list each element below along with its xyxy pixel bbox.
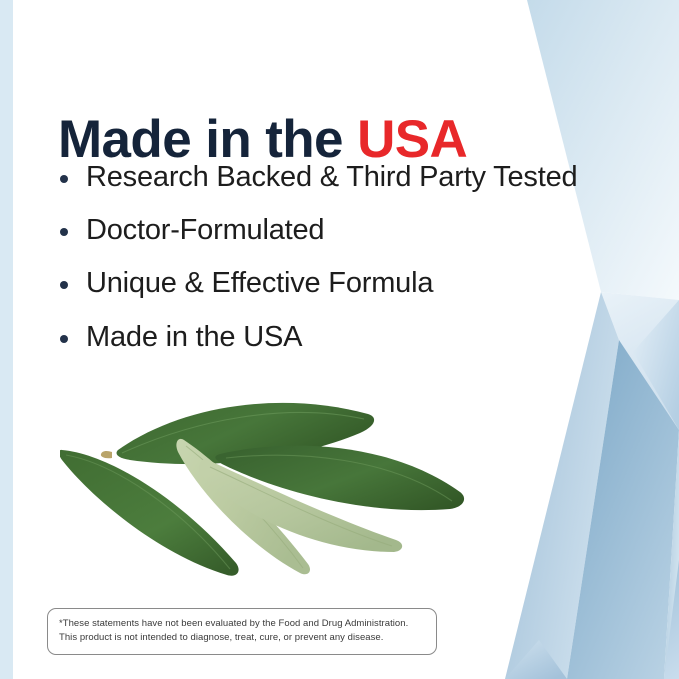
list-item: Research Backed & Third Party Tested: [56, 160, 636, 194]
list-item-label: Doctor-Formulated: [86, 214, 324, 246]
olive-leaves-image: [60, 388, 480, 583]
list-item-label: Research Backed & Third Party Tested: [86, 161, 577, 193]
bullet-dot-icon: [60, 175, 68, 183]
list-item: Unique & Effective Formula: [56, 266, 636, 300]
list-item: Made in the USA: [56, 320, 636, 354]
list-item-label: Unique & Effective Formula: [86, 267, 433, 299]
bullet-dot-icon: [60, 228, 68, 236]
bullet-dot-icon: [60, 281, 68, 289]
feature-list: Research Backed & Third Party Tested Doc…: [56, 160, 636, 373]
disclaimer-line-2: This product is not intended to diagnose…: [59, 631, 426, 645]
disclaimer-box: *These statements have not been evaluate…: [47, 608, 437, 655]
left-edge-band: [0, 0, 13, 679]
promo-card: Made in the USA Research Backed & Third …: [0, 0, 679, 679]
page-title: Made in the USA: [58, 112, 467, 168]
list-item: Doctor-Formulated: [56, 213, 636, 247]
disclaimer-line-1: *These statements have not been evaluate…: [59, 617, 426, 631]
list-item-label: Made in the USA: [86, 321, 302, 353]
bullet-dot-icon: [60, 335, 68, 343]
